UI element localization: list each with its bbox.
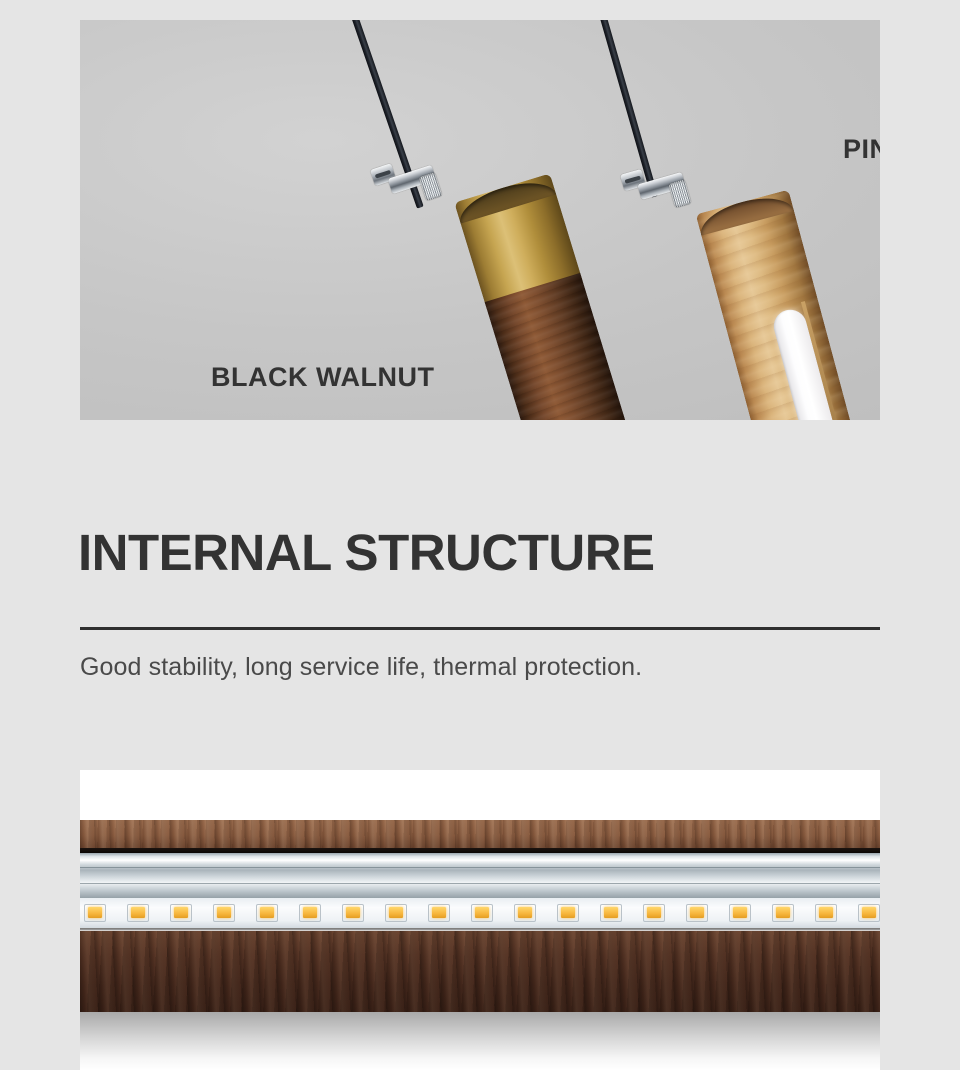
led-chip (213, 904, 235, 922)
section-heading: INTERNAL STRUCTURE (78, 527, 655, 578)
wood-materials-photo: BLACK WALNUT PINE (80, 20, 880, 420)
material-label-pine: PINE (843, 134, 880, 165)
led-chip (299, 904, 321, 922)
led-chip (600, 904, 622, 922)
led-chip (342, 904, 364, 922)
walnut-housing-top (80, 820, 880, 848)
material-label-black-walnut: BLACK WALNUT (211, 362, 434, 393)
led-chip (557, 904, 579, 922)
heading-divider (80, 627, 880, 630)
channel-groove-line (80, 867, 880, 868)
led-chip (772, 904, 794, 922)
internal-structure-photo (80, 770, 880, 1070)
channel-groove-line (80, 883, 880, 884)
photo-bottom-fade (80, 1012, 880, 1070)
section-subtitle: Good stability, long service life, therm… (80, 653, 642, 682)
led-chip (729, 904, 751, 922)
led-chip (127, 904, 149, 922)
led-chip (471, 904, 493, 922)
led-chip (858, 904, 880, 922)
walnut-housing-bottom (80, 931, 880, 1012)
led-chip (643, 904, 665, 922)
led-chip (385, 904, 407, 922)
led-chip (428, 904, 450, 922)
led-chip (84, 904, 106, 922)
led-chip (256, 904, 278, 922)
led-chip (170, 904, 192, 922)
led-pcb-strip (80, 898, 880, 930)
aluminum-heatsink-channel (80, 853, 880, 898)
led-chip (815, 904, 837, 922)
photo-white-top (80, 770, 880, 820)
led-chip (686, 904, 708, 922)
led-chip (514, 904, 536, 922)
